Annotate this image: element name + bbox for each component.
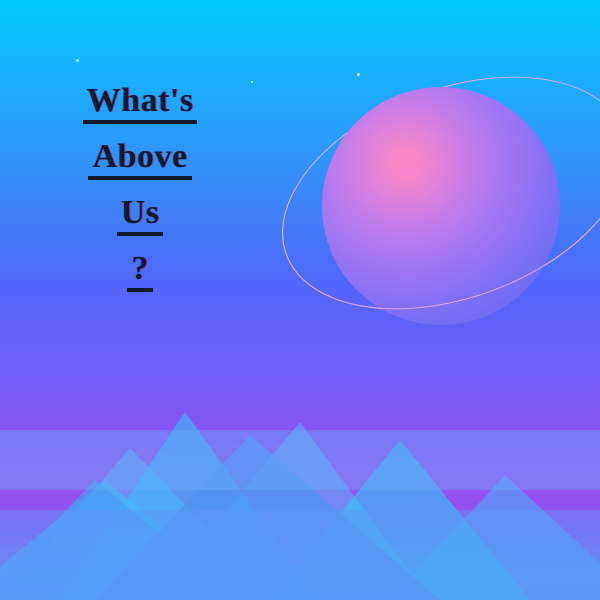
poster-scene: What's Above Us ? [0, 0, 600, 600]
haze-band-lower [0, 510, 600, 600]
mountain-range [0, 330, 600, 600]
star-2-icon [251, 81, 253, 83]
title-line-4: ? [127, 252, 153, 292]
title-line-1: What's [83, 84, 198, 124]
page-title: What's Above Us ? [40, 84, 240, 292]
title-line-2: Above [88, 140, 191, 180]
star-1-icon [76, 59, 79, 62]
haze-band-upper [0, 430, 600, 490]
title-line-3: Us [117, 196, 164, 236]
star-3-icon [357, 73, 360, 76]
